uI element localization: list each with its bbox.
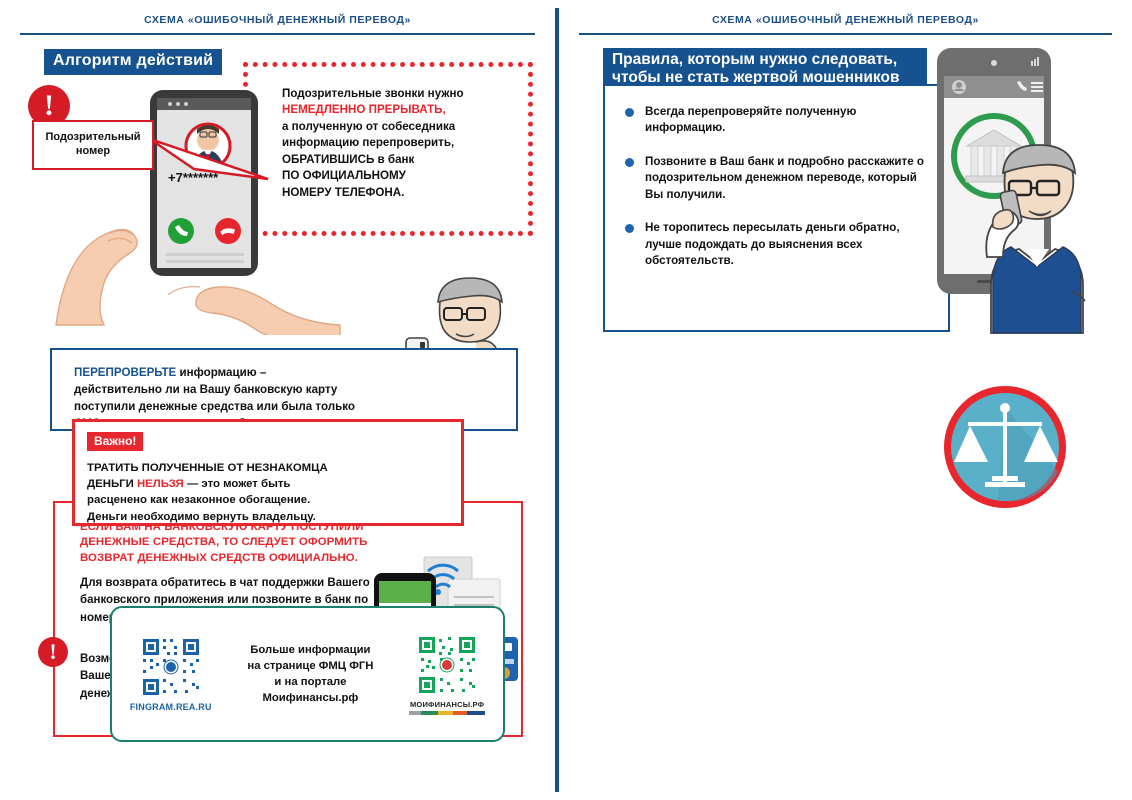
header-rule-right <box>579 33 1112 35</box>
important-line-2a: ДЕНЬГИ <box>87 478 137 490</box>
bullet-dot-icon <box>625 224 634 233</box>
rules-banner-line-1: Правила, которым нужно следовать, <box>612 51 897 68</box>
rule-text-2: Позвоните в Ваш банк и подробно расскажи… <box>645 155 924 201</box>
refund-exclamation-icon: ! <box>38 637 68 667</box>
qr-caption-fingram: FINGRAM.REA.RU <box>130 702 212 712</box>
list-item: Позвоните в Ваш банк и подробно расскажи… <box>619 154 932 203</box>
footer-line-2: на странице ФМЦ ФГН <box>247 660 373 672</box>
header-rule <box>20 33 535 35</box>
footer-line-4: Моифинансы.рф <box>262 692 358 704</box>
important-tag: Важно! <box>87 432 143 451</box>
important-line-2b: — это может быть <box>184 478 291 490</box>
man-calling-bank-illustration <box>967 135 1117 335</box>
footer-line-3: и на портале <box>274 676 346 688</box>
qr-code-moifinansy-icon[interactable] <box>416 634 478 696</box>
recheck-line-2: действительно ли на Вашу банковскую карт… <box>74 383 337 396</box>
important-warning-box: Важно! ТРАТИТЬ ПОЛУЧЕННЫЕ ОТ НЕЗНАКОМЦА … <box>72 419 464 526</box>
infographic-page: СХЕМА «ОШИБОЧНЫЙ ДЕНЕЖНЫЙ ПЕРЕВОД» Алгор… <box>0 0 1132 800</box>
qr-unit-moifinansy[interactable]: МОИФИНАНСЫ.РФ <box>409 634 485 715</box>
list-item: Всегда перепроверяйте полученную информа… <box>619 104 932 137</box>
recheck-highlight: ПЕРЕПРОВЕРЬТЕ <box>74 366 176 379</box>
qr-unit-fingram[interactable]: FINGRAM.REA.RU <box>130 636 212 712</box>
callout-line-2: номер <box>76 145 110 157</box>
dotted-line-5: ОБРАТИВШИСЬ в банк <box>282 153 414 166</box>
dotted-line-1: Подозрительные звонки нужно <box>282 87 464 100</box>
refund-heading-line-2: ДЕНЕЖНЫЕ СРЕДСТВА, ТО СЛЕДУЕТ ОФОРМИТЬ <box>80 536 367 548</box>
footer-qr-box: FINGRAM.REA.RU Больше информации на стра… <box>110 606 505 742</box>
qr-caption-moifinansy: МОИФИНАНСЫ.РФ <box>410 700 484 709</box>
recheck-line-3: поступили денежные средства или была тол… <box>74 400 355 413</box>
header-title: СХЕМА «ОШИБОЧНЫЙ ДЕНЕЖНЫЙ ПЕРЕВОД» <box>20 14 535 26</box>
moifinansy-color-bar <box>409 711 485 715</box>
right-page-header: СХЕМА «ОШИБОЧНЫЙ ДЕНЕЖНЫЙ ПЕРЕВОД» <box>579 14 1112 35</box>
header-title-right: СХЕМА «ОШИБОЧНЫЙ ДЕНЕЖНЫЙ ПЕРЕВОД» <box>579 14 1112 26</box>
important-text: ТРАТИТЬ ПОЛУЧЕННЫЕ ОТ НЕЗНАКОМЦА ДЕНЬГИ … <box>87 460 447 525</box>
important-line-4: Деньги необходимо вернуть владельцу. <box>87 511 316 523</box>
important-line-2-red: НЕЛЬЗЯ <box>137 478 184 490</box>
footer-line-1: Больше информации <box>250 644 370 656</box>
dotted-line-3: а полученную от собеседника <box>282 120 455 133</box>
important-line-1: ТРАТИТЬ ПОЛУЧЕННЫЕ ОТ НЕЗНАКОМЦА <box>87 462 328 474</box>
callout-pointer <box>150 137 280 192</box>
left-page-header: СХЕМА «ОШИБОЧНЫЙ ДЕНЕЖНЫЙ ПЕРЕВОД» <box>20 14 535 35</box>
list-item: Не торопитесь пересылать деньги обратно,… <box>619 220 932 269</box>
important-line-3: расценено как незаконное обогащение. <box>87 494 310 506</box>
rules-list-box: Всегда перепроверяйте полученную информа… <box>603 84 950 332</box>
bullet-dot-icon <box>625 108 634 117</box>
justice-scales-icon <box>940 382 1070 512</box>
suspicious-number-callout: Подозрительный номер <box>32 120 154 170</box>
footer-info-text: Больше информации на странице ФМЦ ФГН и … <box>247 642 373 706</box>
rule-text-1: Всегда перепроверяйте полученную информа… <box>645 105 856 134</box>
callout-line-1: Подозрительный <box>45 131 140 143</box>
dotted-line-2: НЕМЕДЛЕННО ПРЕРЫВАТЬ, <box>282 103 446 116</box>
rule-text-3: Не торопитесь пересылать деньги обратно,… <box>645 221 900 267</box>
refund-heading-line-3: ВОЗВРАТ ДЕНЕЖНЫХ СРЕДСТВ ОФИЦИАЛЬНО. <box>80 552 358 564</box>
recheck-rest: информацию – <box>176 366 266 379</box>
hands-illustration <box>50 175 350 335</box>
dotted-line-4: информацию перепроверить, <box>282 136 454 149</box>
bullet-dot-icon <box>625 158 634 167</box>
qr-code-fingram-icon[interactable] <box>140 636 202 698</box>
algorithm-badge: Алгоритм действий <box>44 49 222 75</box>
